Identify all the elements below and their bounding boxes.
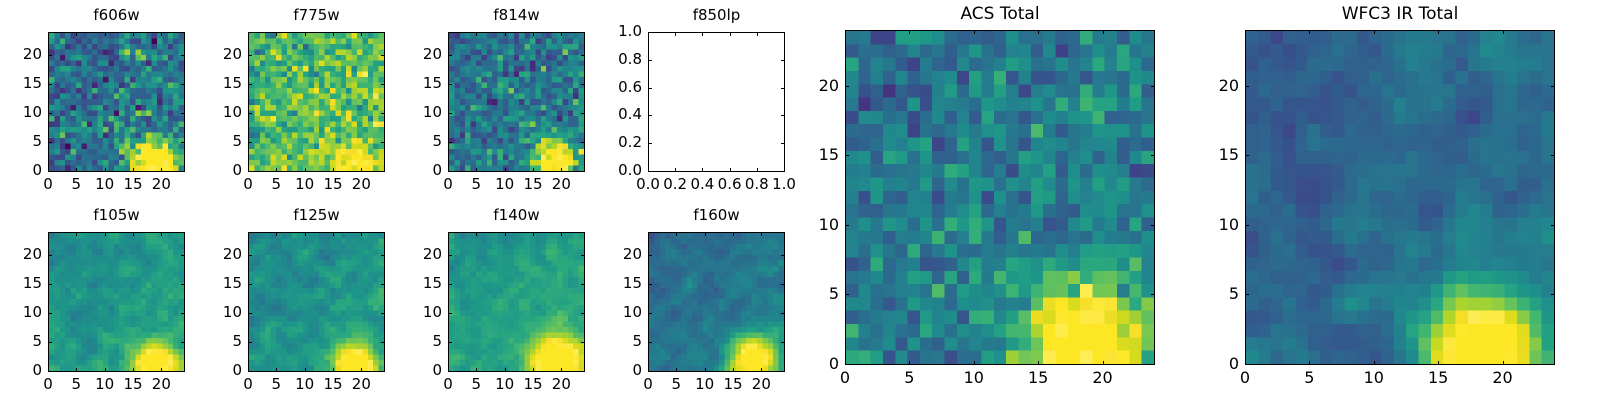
- x-tick-label: 0: [1215, 370, 1275, 386]
- x-tick-label: 20: [1473, 370, 1533, 386]
- figure-canvas: f606w0510152005101520f775w05101520051015…: [0, 0, 1600, 400]
- x-tick-mark: [1438, 361, 1439, 365]
- x-tick-mark: [1309, 361, 1310, 365]
- y-tick-mark: [1551, 86, 1555, 87]
- y-tick-mark: [1245, 294, 1249, 295]
- y-tick-label: 10: [1177, 217, 1239, 233]
- y-tick-mark: [1245, 225, 1249, 226]
- y-tick-mark: [1551, 225, 1555, 226]
- x-tick-mark: [1438, 30, 1439, 34]
- plot-area-wfc3_ir_total[interactable]: [1245, 30, 1555, 365]
- x-tick-mark: [1309, 30, 1310, 34]
- y-tick-label: 15: [1177, 147, 1239, 163]
- x-tick-label: 10: [1344, 370, 1404, 386]
- x-tick-mark: [1374, 30, 1375, 34]
- x-tick-mark: [1503, 30, 1504, 34]
- y-tick-mark: [1245, 86, 1249, 87]
- y-tick-label: 20: [1177, 78, 1239, 94]
- subplot-wfc3_ir_total: WFC3 IR Total0510152005101520: [0, 0, 1600, 400]
- y-tick-mark: [1551, 155, 1555, 156]
- x-tick-mark: [1374, 361, 1375, 365]
- panel-title-wfc3_ir_total: WFC3 IR Total: [1245, 6, 1555, 23]
- y-tick-mark: [1245, 364, 1249, 365]
- y-tick-mark: [1551, 294, 1555, 295]
- x-tick-mark: [1245, 30, 1246, 34]
- y-tick-label: 5: [1177, 286, 1239, 302]
- heatmap-image-wfc3_ir_total: [1246, 31, 1554, 364]
- y-tick-mark: [1551, 364, 1555, 365]
- y-tick-label: 0: [1177, 356, 1239, 372]
- x-tick-label: 15: [1408, 370, 1468, 386]
- x-tick-mark: [1503, 361, 1504, 365]
- y-tick-mark: [1245, 155, 1249, 156]
- x-tick-label: 5: [1279, 370, 1339, 386]
